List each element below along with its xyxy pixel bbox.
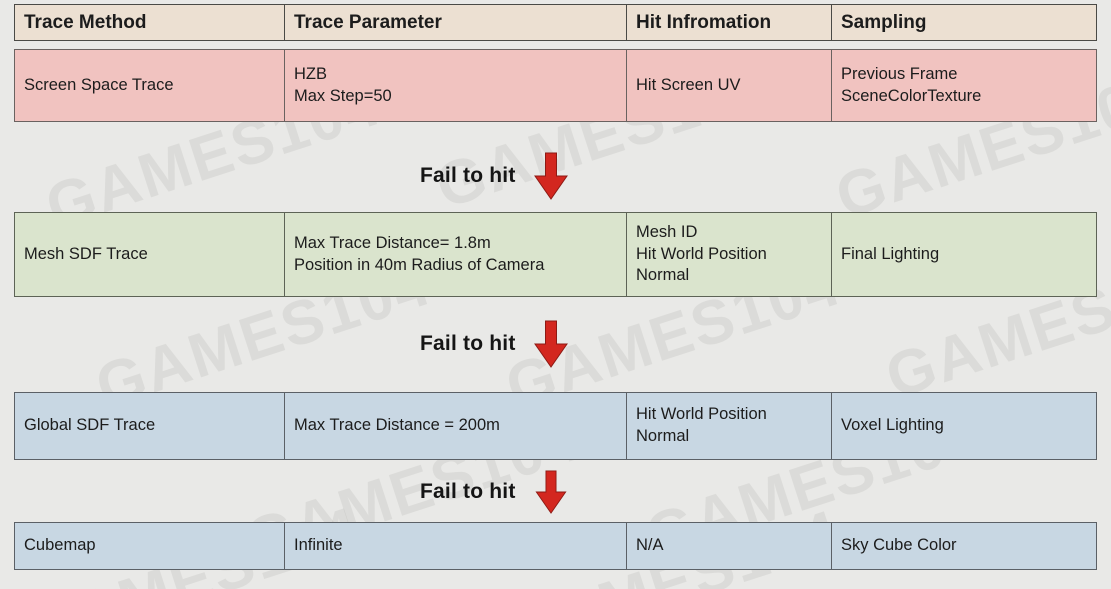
cell-hit-information: Hit Screen UV — [627, 49, 832, 122]
trace-method-fallback-diagram: Trace Method Trace Parameter Hit Infroma… — [0, 0, 1111, 589]
column-header-trace-method: Trace Method — [14, 4, 285, 41]
table-row: Cubemap Infinite N/A Sky Cube Color — [14, 522, 1097, 570]
table-row: Mesh SDF Trace Max Trace Distance= 1.8m … — [14, 212, 1097, 297]
cell-hit-information: N/A — [627, 522, 832, 570]
column-header-sampling: Sampling — [832, 4, 1097, 41]
column-header-hit-information: Hit Infromation — [627, 4, 832, 41]
cell-sampling: Final Lighting — [832, 212, 1097, 297]
fail-to-hit-connector: Fail to hit — [420, 152, 568, 200]
cell-hit-information: Mesh ID Hit World Position Normal — [627, 212, 832, 297]
cell-trace-method: Global SDF Trace — [14, 392, 285, 460]
fail-to-hit-connector: Fail to hit — [420, 470, 568, 514]
fail-to-hit-connector: Fail to hit — [420, 320, 568, 368]
cell-sampling: Voxel Lighting — [832, 392, 1097, 460]
cell-trace-parameter: Max Trace Distance = 200m — [285, 392, 627, 460]
table-row: Screen Space Trace HZB Max Step=50 Hit S… — [14, 49, 1097, 122]
table-row: Global SDF Trace Max Trace Distance = 20… — [14, 392, 1097, 460]
cell-trace-parameter: Max Trace Distance= 1.8m Position in 40m… — [285, 212, 627, 297]
table-header-row: Trace Method Trace Parameter Hit Infroma… — [14, 4, 1097, 41]
fail-to-hit-label: Fail to hit — [420, 480, 516, 504]
cell-sampling: Sky Cube Color — [832, 522, 1097, 570]
cell-trace-method: Mesh SDF Trace — [14, 212, 285, 297]
cell-trace-method: Cubemap — [14, 522, 285, 570]
cell-sampling: Previous Frame SceneColorTexture — [832, 49, 1097, 122]
arrow-down-icon — [534, 320, 568, 368]
cell-trace-parameter: Infinite — [285, 522, 627, 570]
cell-trace-parameter: HZB Max Step=50 — [285, 49, 627, 122]
column-header-trace-parameter: Trace Parameter — [285, 4, 627, 41]
arrow-down-icon — [534, 152, 568, 200]
fail-to-hit-label: Fail to hit — [420, 332, 516, 356]
cell-trace-method: Screen Space Trace — [14, 49, 285, 122]
arrow-down-icon — [534, 470, 568, 514]
fail-to-hit-label: Fail to hit — [420, 164, 516, 188]
cell-hit-information: Hit World Position Normal — [627, 392, 832, 460]
